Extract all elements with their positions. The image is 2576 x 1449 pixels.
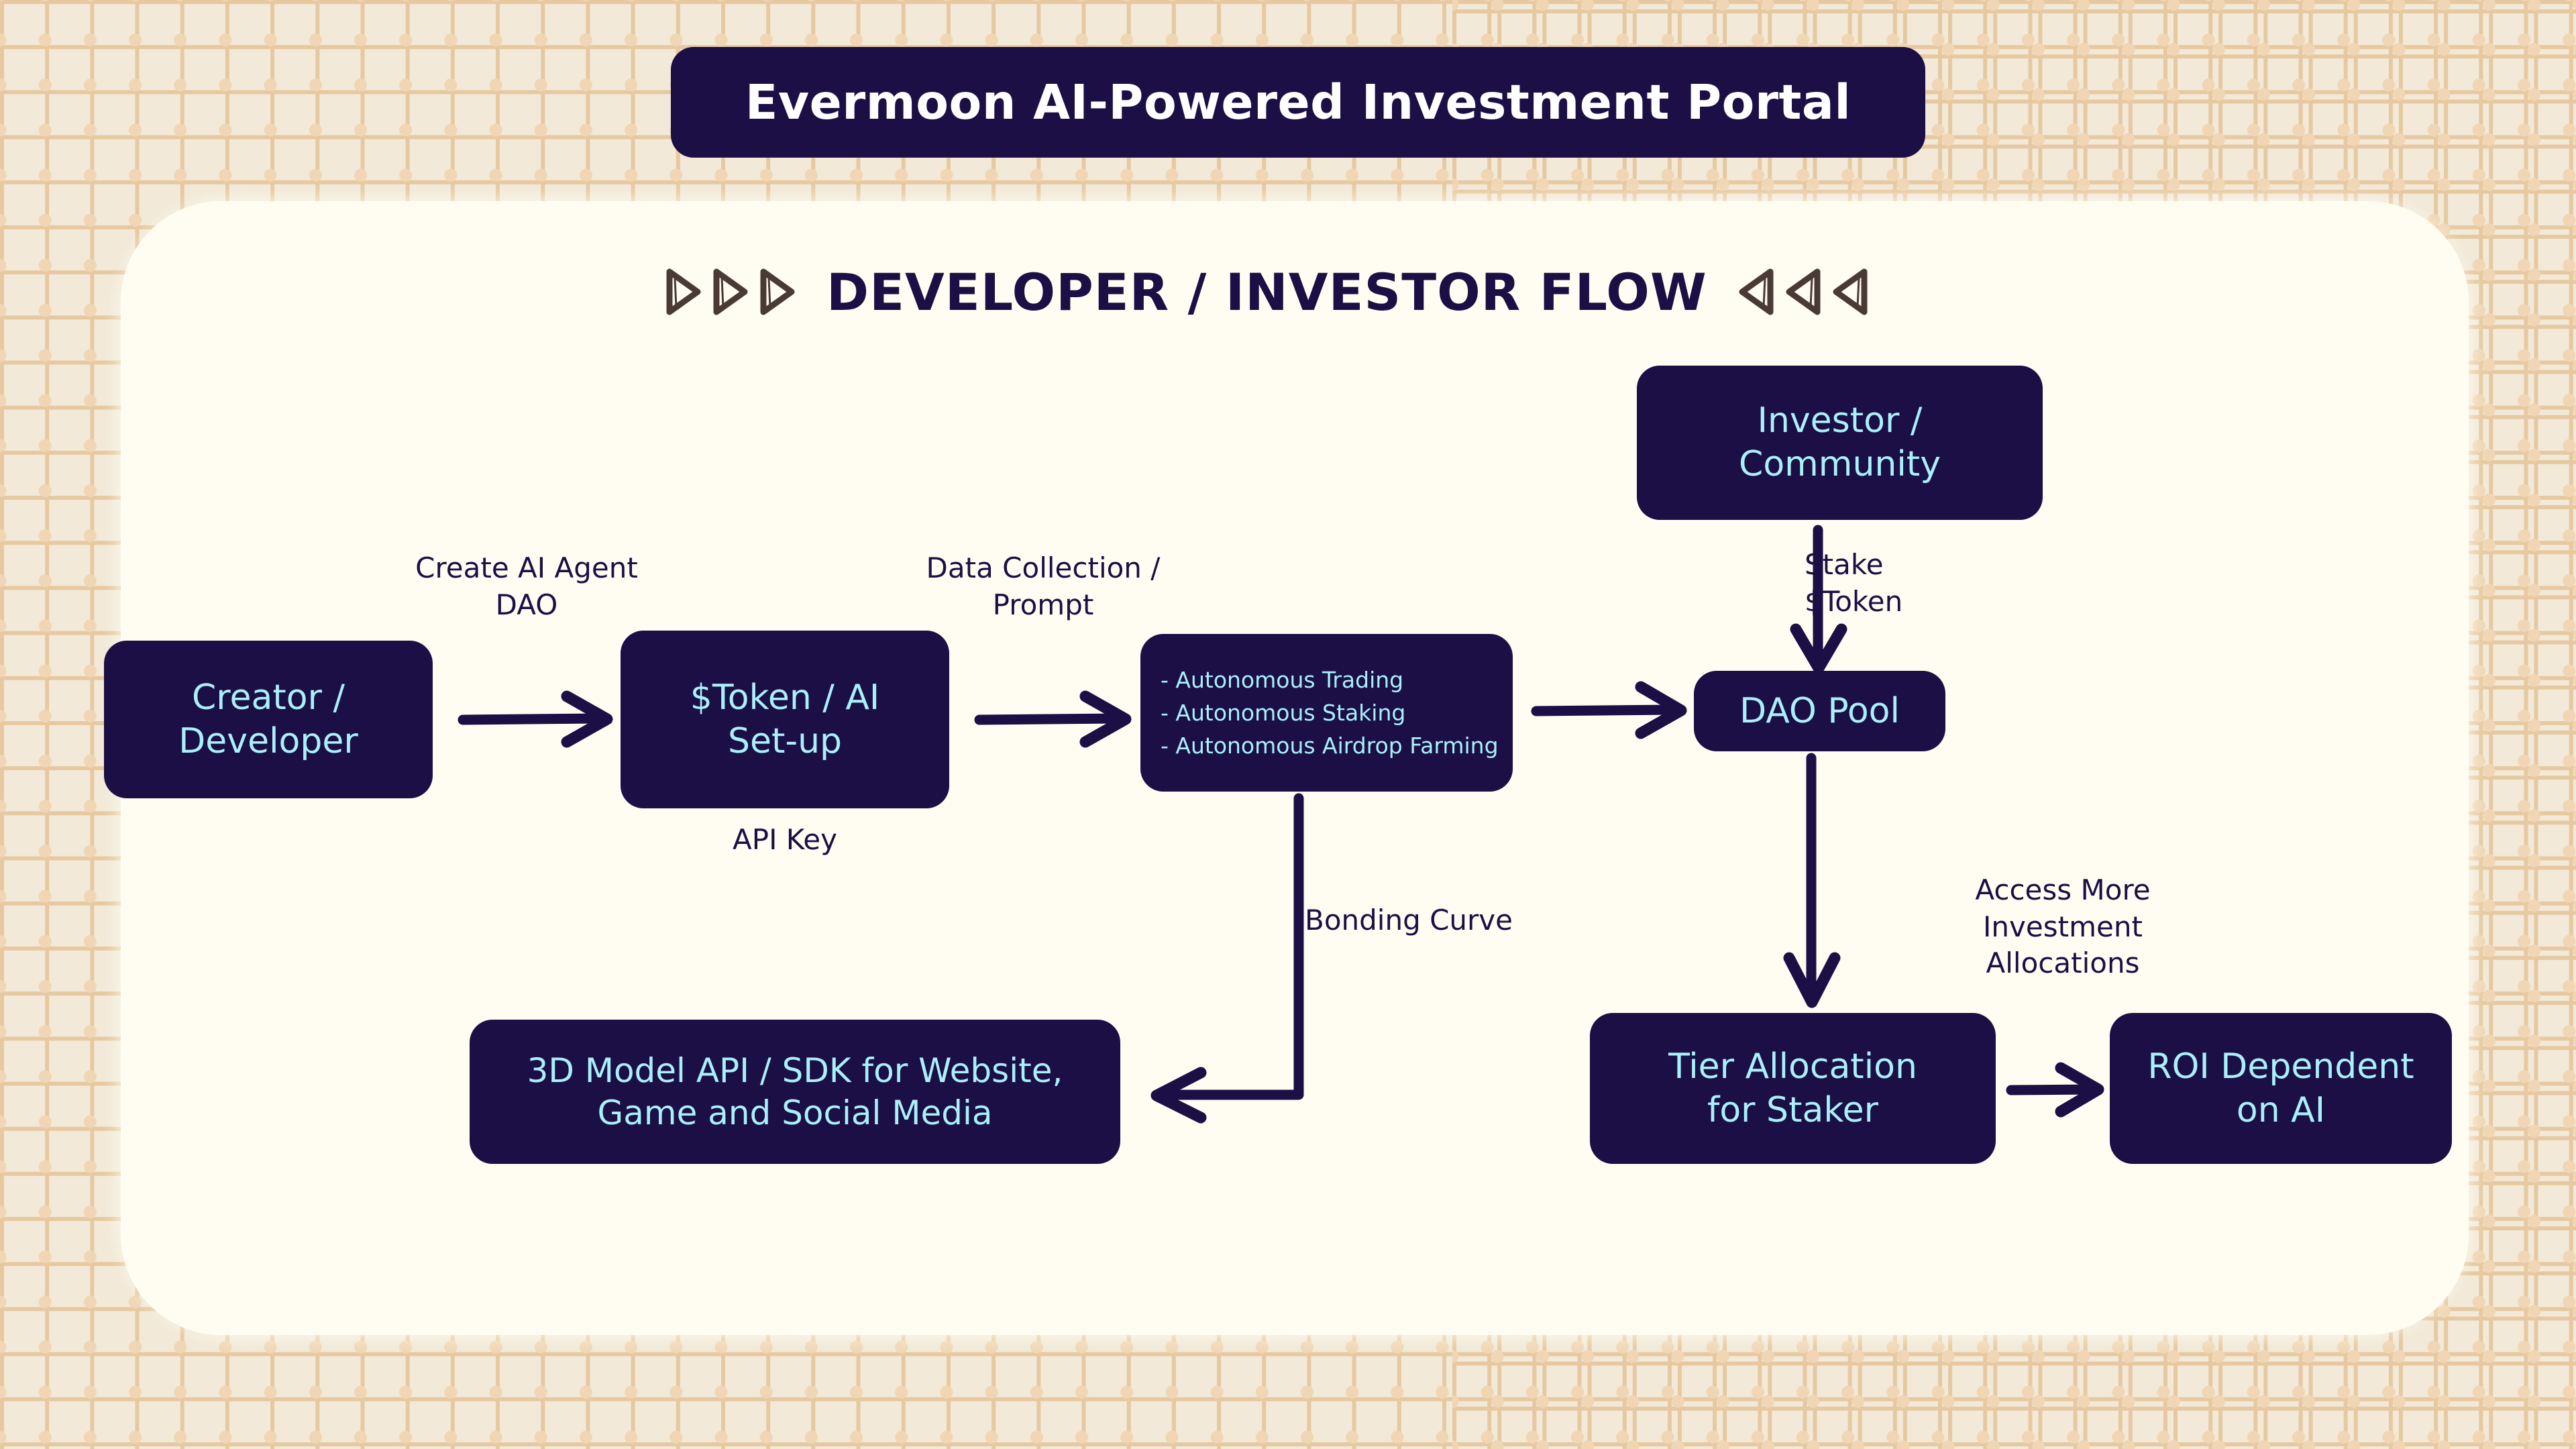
node-token-setup[interactable]: $Token / AI Set-up — [621, 631, 949, 808]
edge-label-stake-token: Stake $Token — [1805, 547, 2026, 620]
edge-label-api-key: API Key — [671, 822, 899, 859]
node-creator-developer-label: Creator / Developer — [178, 676, 358, 763]
node-tier-allocation-label: Tier Allocation for Staker — [1668, 1045, 1917, 1132]
list-item: - Autonomous Trading — [1161, 666, 1499, 694]
flow-heading-label: DEVELOPER / INVESTOR FLOW — [826, 262, 1707, 322]
triangle-left-outline-icon — [1832, 268, 1870, 315]
edge-label-create-ai-agent-dao: Create AI Agent DAO — [376, 550, 678, 623]
triangle-right-outline-icon — [664, 268, 702, 315]
triangle-right-decor-group — [664, 268, 796, 315]
node-autonomous-features[interactable]: - Autonomous Trading - Autonomous Stakin… — [1140, 634, 1513, 792]
node-model-api-sdk[interactable]: 3D Model API / SDK for Website, Game and… — [470, 1020, 1120, 1164]
node-investor-community-label: Investor / Community — [1739, 399, 1941, 486]
list-item: - Autonomous Staking — [1161, 699, 1499, 727]
node-investor-community[interactable]: Investor / Community — [1637, 366, 2043, 520]
flow-heading-row: DEVELOPER / INVESTOR FLOW — [664, 255, 1870, 329]
node-roi-dependent[interactable]: ROI Dependent on AI — [2110, 1013, 2452, 1164]
triangle-right-outline-icon — [758, 268, 796, 315]
node-dao-pool[interactable]: DAO Pool — [1694, 671, 1945, 751]
node-creator-developer[interactable]: Creator / Developer — [104, 641, 433, 798]
node-roi-dependent-label: ROI Dependent on AI — [2147, 1045, 2414, 1132]
node-dao-pool-label: DAO Pool — [1739, 690, 1900, 733]
diagram-canvas: Evermoon AI-Powered Investment Portal DE… — [0, 0, 2576, 1449]
node-tier-allocation[interactable]: Tier Allocation for Staker — [1590, 1013, 1996, 1164]
autonomous-feature-list: - Autonomous Trading - Autonomous Stakin… — [1161, 661, 1499, 765]
triangle-left-outline-icon — [1738, 268, 1776, 315]
list-item: - Autonomous Airdrop Farming — [1161, 732, 1499, 759]
node-model-api-sdk-label: 3D Model API / SDK for Website, Game and… — [527, 1050, 1063, 1134]
triangle-right-outline-icon — [711, 268, 749, 315]
triangle-left-outline-icon — [1785, 268, 1823, 315]
triangle-left-decor-group — [1738, 268, 1870, 315]
page-title: Evermoon AI-Powered Investment Portal — [745, 74, 1851, 130]
edge-label-access-more-investment-allocations: Access More Investment Allocations — [1939, 872, 2187, 982]
edge-label-data-collection-prompt: Data Collection / Prompt — [892, 550, 1194, 623]
node-token-setup-label: $Token / AI Set-up — [690, 676, 880, 763]
edge-label-bonding-curve: Bonding Curve — [1305, 902, 1620, 939]
title-banner: Evermoon AI-Powered Investment Portal — [671, 47, 1925, 158]
